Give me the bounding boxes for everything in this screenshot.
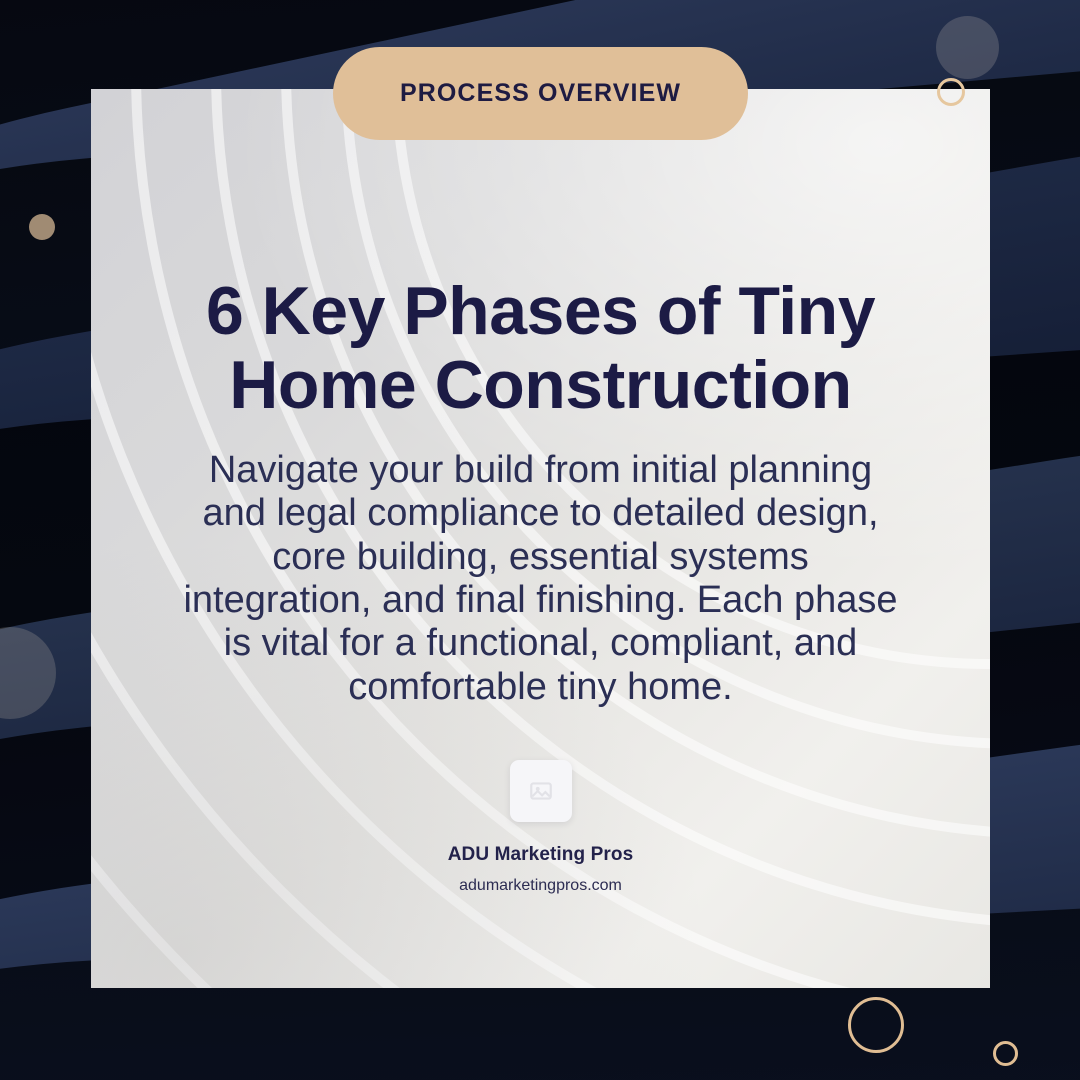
gray-circle-decoration-top-right <box>936 16 999 79</box>
social-post-canvas: 6 Key Phases of Tiny Home Construction N… <box>0 0 1080 1080</box>
page-title: 6 Key Phases of Tiny Home Construction <box>161 274 920 424</box>
tan-ring-decoration-top-right <box>937 78 965 106</box>
brand-name: ADU Marketing Pros <box>91 844 990 866</box>
brand-website: adumarketingpros.com <box>91 877 990 895</box>
image-placeholder-icon <box>528 778 554 804</box>
card-content: 6 Key Phases of Tiny Home Construction N… <box>91 89 990 988</box>
tan-ring-decoration-bottom-right-small <box>993 1041 1018 1066</box>
badge-label: PROCESS OVERVIEW <box>400 79 681 108</box>
tan-ring-decoration-bottom-right-large <box>848 997 904 1053</box>
tan-dot-decoration <box>29 214 55 240</box>
body-description: Navigate your build from initial plannin… <box>173 449 908 709</box>
content-card: 6 Key Phases of Tiny Home Construction N… <box>91 89 990 988</box>
process-overview-badge: PROCESS OVERVIEW <box>333 47 748 140</box>
brand-logo-placeholder <box>510 760 572 822</box>
